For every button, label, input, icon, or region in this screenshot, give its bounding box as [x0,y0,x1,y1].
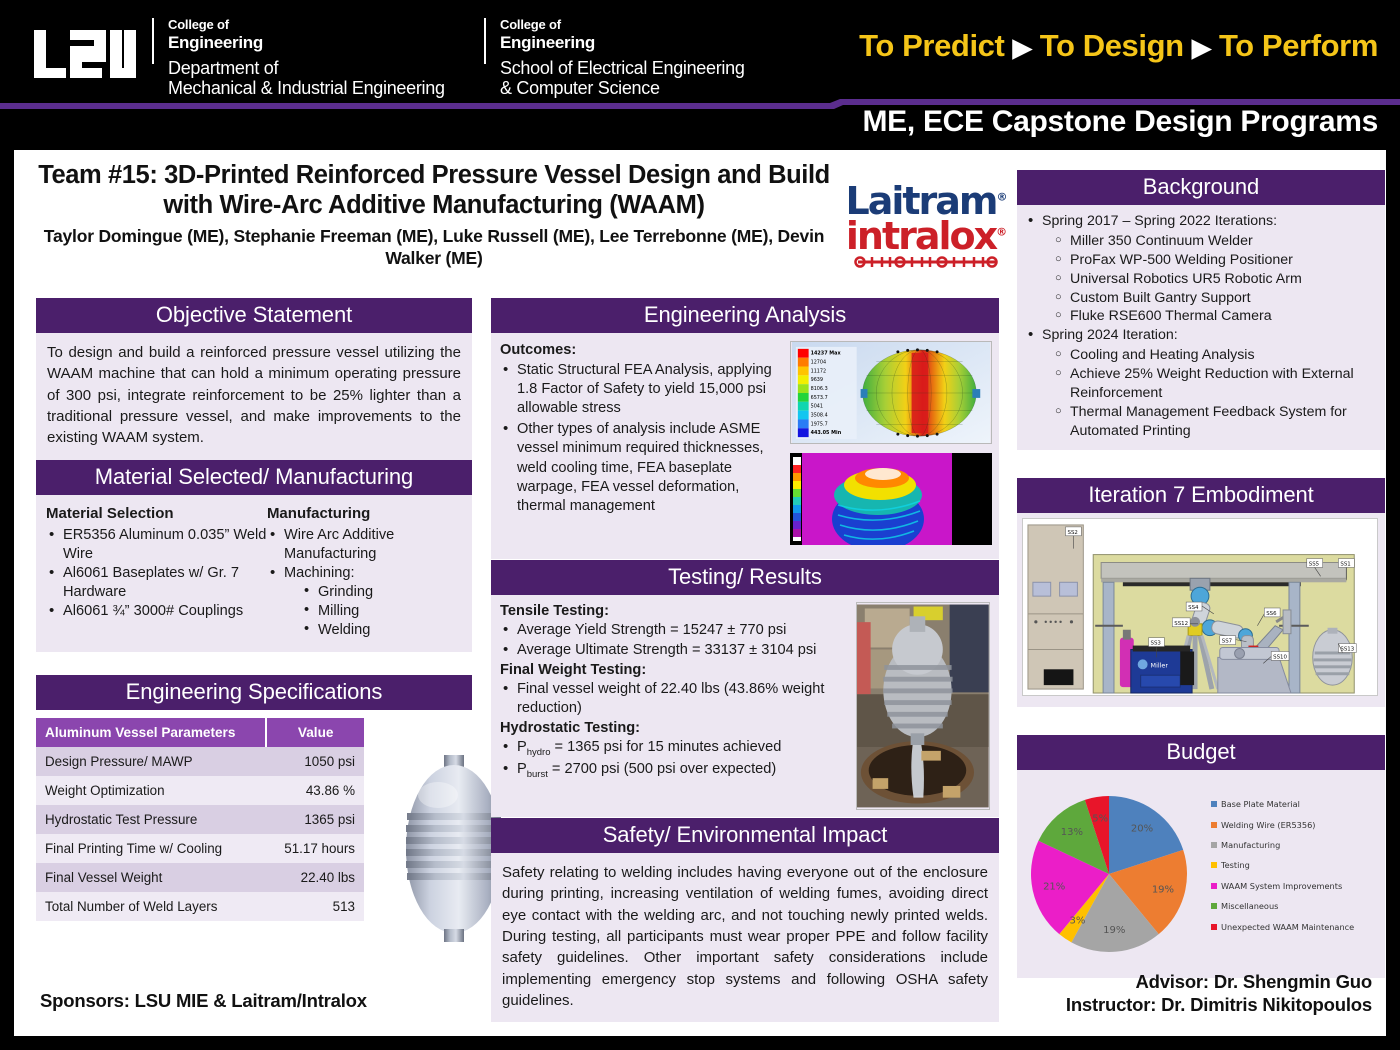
cell-value: 513 [266,892,364,921]
callout-ss10: SS10 [1273,655,1287,661]
cell-parameter: Final Printing Time w/ Cooling [36,834,266,863]
embodiment-cad-diagram: Miller [1022,518,1378,696]
section-objective-statement: Objective Statement To design and build … [36,298,472,460]
table-header-row: Aluminum Vessel Parameters Value [36,718,364,747]
cell-parameter: Hydrostatic Test Pressure [36,805,266,834]
manufacturing-heading: Manufacturing [267,504,462,523]
legend-item: Miscellaneous [1211,902,1381,911]
fea-legend-2: 11172 [811,368,827,374]
list-item: Final vessel weight of 22.40 lbs (43.86%… [500,680,851,718]
cell-parameter: Weight Optimization [36,776,266,805]
table-row: Total Number of Weld Layers513 [36,892,364,921]
testing-heading: Testing/ Results [491,560,999,595]
dept1-line1: College of [168,18,445,33]
fea-legend-8: 1975.7 [811,421,828,427]
analysis-images: 14237 Max 12704 11172 9639 8106.3 6573.7… [790,341,990,551]
analysis-text: Outcomes: Static Structural FEA Analysis… [500,341,784,551]
list-item: Spring 2017 – Spring 2022 Iterations: [1025,212,1377,231]
engineering-specifications-table: Aluminum Vessel Parameters Value Design … [36,718,364,921]
material-selection-heading: Material Selection [46,504,267,523]
pie-slice-label: 13% [1061,827,1083,838]
dept2-line3: School of Electrical Engineering [500,58,745,78]
section-material-manufacturing: Material Selected/ Manufacturing Materia… [36,460,472,652]
list-item: Phydro = 1365 psi for 15 minutes achieve… [500,738,851,759]
cell-parameter: Final Vessel Weight [36,863,266,892]
list-item: Average Ultimate Strength = 33137 ± 3104… [500,641,851,660]
background-list: Spring 2017 – Spring 2022 Iterations: [1025,212,1377,231]
legend-swatch-icon [1211,924,1217,930]
hydrostatic-heading: Hydrostatic Testing: [500,719,851,738]
dept-mie-block: College of Engineering Department of Mec… [168,18,445,98]
final-weight-heading: Final Weight Testing: [500,661,851,680]
budget-heading: Budget [1017,735,1385,770]
section-budget: Budget 20%19%19%3%21%13%5% Base Plate Ma… [1017,735,1385,978]
sub-banner-title: ME, ECE Capstone Design Programs [862,105,1378,139]
lsu-logo [32,28,138,80]
cell-value: 1365 psi [266,805,364,834]
hydrostatic-test-photo [856,602,990,810]
legend-label: Base Plate Material [1221,800,1300,809]
advisor-block: Advisor: Dr. Shengmin Guo Instructor: Dr… [1066,970,1372,1016]
section-testing-results: Testing/ Results Tensile Testing: Averag… [491,560,999,817]
pie-slice-label: 5% [1092,814,1108,825]
list-item: Custom Built Gantry Support [1053,289,1377,308]
background-sublist-2: Cooling and Heating Analysis Achieve 25%… [1053,346,1377,440]
sponsor-logo-laitram-intralox: Laitram® intralox® [845,164,1008,290]
legend-swatch-icon [1211,862,1217,868]
dept2-line4: & Computer Science [500,78,745,98]
callout-ss4: SS4 [1188,605,1199,611]
cell-value: 43.86 % [266,776,364,805]
budget-body: 20%19%19%3%21%13%5% Base Plate MaterialW… [1017,770,1385,978]
table-row: Weight Optimization43.86 % [36,776,364,805]
legend-item: Testing [1211,861,1381,870]
callout-ss7: SS7 [1222,639,1232,645]
fea-legend-4: 8106.3 [811,386,828,392]
legend-swatch-icon [1211,883,1217,889]
list-item: Average Yield Strength = 15247 ± 770 psi [500,621,851,640]
list-item: Grinding [301,583,462,602]
dept1-line3: Department of [168,58,445,78]
poster-header: College of Engineering Department of Mec… [0,0,1400,148]
fea-legend-1: 12704 [811,360,827,366]
fea-stress-plot-image: 14237 Max 12704 11172 9639 8106.3 6573.7… [790,341,992,444]
safety-heading: Safety/ Environmental Impact [491,818,999,853]
tagline: To Predict ▶ To Design ▶ To Perform [859,28,1378,64]
legend-item: Base Plate Material [1211,800,1381,809]
tagline-triangle-1-icon: ▶ [1013,34,1032,62]
legend-item: Unexpected WAAM Maintenance [1211,923,1381,932]
background-body: Spring 2017 – Spring 2022 Iterations: Mi… [1017,205,1385,450]
list-item: Thermal Management Feedback System for A… [1053,403,1377,441]
p-burst-value: = 2700 psi (500 psi over expected) [548,761,776,777]
legend-label: Unexpected WAAM Maintenance [1221,923,1354,932]
legend-swatch-icon [1211,903,1217,909]
p-hydro-value: = 1365 psi for 15 minutes achieved [551,739,782,755]
section-engineering-specifications: Engineering Specifications Aluminum Vess… [36,675,472,921]
tensile-testing-list: Average Yield Strength = 15247 ± 770 psi… [500,621,851,660]
material-body: Material Selection ER5356 Aluminum 0.035… [36,495,472,652]
legend-swatch-icon [1211,822,1217,828]
fea-legend-0: 14237 Max [811,351,842,357]
cell-parameter: Design Pressure/ MAWP [36,747,266,776]
column-header-parameter: Aluminum Vessel Parameters [36,718,266,747]
list-item: Machining: [267,564,462,583]
dept-ece-block: College of Engineering School of Electri… [500,18,745,98]
list-item: Cooling and Heating Analysis [1053,346,1377,365]
list-item: Universal Robotics UR5 Robotic Arm [1053,270,1377,289]
cell-parameter: Total Number of Weld Layers [36,892,266,921]
embodiment-body: Miller [1017,513,1385,707]
background-heading: Background [1017,170,1385,205]
p-burst-symbol: P [517,761,527,777]
header-divider-2 [484,18,486,64]
callout-ss3: SS3 [1151,641,1162,647]
pie-slice-label: 3% [1069,916,1085,927]
advisor-line: Advisor: Dr. Shengmin Guo [1066,970,1372,993]
dept1-line2: Engineering [168,33,445,52]
list-item: Miller 350 Continuum Welder [1053,232,1377,251]
callout-ss13: SS13 [1340,647,1354,653]
hydrostatic-list: Phydro = 1365 psi for 15 minutes achieve… [500,738,851,782]
list-item: Milling [301,602,462,621]
cell-value: 1050 psi [266,747,364,776]
analysis-heading: Engineering Analysis [491,298,999,333]
embodiment-heading: Iteration 7 Embodiment [1017,478,1385,513]
tensile-testing-heading: Tensile Testing: [500,602,851,621]
dept2-line2: Engineering [500,33,745,52]
welder-brand-label: Miller [1151,661,1169,669]
list-item: Static Structural FEA Analysis, applying… [500,361,784,419]
callout-ss6: SS6 [1266,611,1277,617]
fea-legend-5: 6573.7 [811,395,828,401]
machining-sublist: Grinding Milling Welding [301,583,462,640]
list-item: Welding [301,621,462,640]
p-hydro-symbol: P [517,739,527,755]
testing-body: Tensile Testing: Average Yield Strength … [491,595,999,817]
cell-value: 51.17 hours [266,834,364,863]
cell-value: 22.40 lbs [266,863,364,892]
tagline-part1: To Predict [859,28,1004,63]
sponsors-line: Sponsors: LSU MIE & Laitram/Intralox [40,990,367,1012]
list-item: Wire Arc Additive Manufacturing [267,526,462,564]
legend-item: WAAM System Improvements [1211,882,1381,891]
title-zone: Team #15: 3D-Printed Reinforced Pressure… [34,160,834,269]
callout-ss2: SS2 [1068,530,1078,536]
p-hydro-subscript: hydro [527,747,551,758]
legend-item: Manufacturing [1211,841,1381,850]
background-sublist-1: Miller 350 Continuum Welder ProFax WP-50… [1053,232,1377,326]
tagline-part2: To Design [1040,28,1184,63]
table-row: Final Vessel Weight22.40 lbs [36,863,364,892]
analysis-list: Static Structural FEA Analysis, applying… [500,361,784,517]
material-selection-column: Material Selection ER5356 Aluminum 0.035… [46,504,267,640]
background-list-2: Spring 2024 Iteration: [1025,326,1377,345]
fea-legend-6: 5041 [811,404,823,410]
intralox-belt-icon [852,254,1002,270]
fea-legend-3: 9639 [811,377,823,383]
section-iteration-7-embodiment: Iteration 7 Embodiment [1017,478,1385,707]
table-row: Design Pressure/ MAWP1050 psi [36,747,364,776]
tagline-triangle-2-icon: ▶ [1192,34,1211,62]
list-item: Fluke RSE600 Thermal Camera [1053,307,1377,326]
list-item: Other types of analysis include ASME ves… [500,420,784,517]
objective-body: To design and build a reinforced pressur… [36,333,472,459]
objective-heading: Objective Statement [36,298,472,333]
material-heading: Material Selected/ Manufacturing [36,460,472,495]
budget-pie-chart: 20%19%19%3%21%13%5% [1021,774,1211,976]
legend-swatch-icon [1211,842,1217,848]
legend-label: Testing [1221,861,1250,870]
dept2-line1: College of [500,18,745,33]
pie-slice-label: 19% [1103,925,1125,936]
legend-swatch-icon [1211,801,1217,807]
list-item: Achieve 25% Weight Reduction with Extern… [1053,365,1377,403]
callout-ss12: SS12 [1174,621,1188,627]
tagline-part3: To Perform [1219,28,1378,63]
section-safety-environmental-impact: Safety/ Environmental Impact Safety rela… [491,818,999,1022]
pie-svg: 20%19%19%3%21%13%5% [1021,774,1211,974]
legend-label: Manufacturing [1221,841,1280,850]
fea-legend-9: 443.05 Min [811,430,842,436]
list-item: Pburst = 2700 psi (500 psi over expected… [500,760,851,781]
testing-text: Tensile Testing: Average Yield Strength … [500,602,851,810]
callout-ss5: SS5 [1309,562,1319,568]
legend-label: Miscellaneous [1221,902,1278,911]
safety-body: Safety relating to welding includes havi… [491,853,999,1022]
list-item: Al6061 Baseplates w/ Gr. 7 Hardware [46,564,267,602]
dept1-line4: Mechanical & Industrial Engineering [168,78,445,98]
analysis-subheading: Outcomes: [500,341,784,360]
list-item: ProFax WP-500 Welding Positioner [1053,251,1377,270]
section-background: Background Spring 2017 – Spring 2022 Ite… [1017,170,1385,450]
manufacturing-list: Wire Arc Additive Manufacturing Machinin… [267,526,462,583]
callout-ss1: SS1 [1340,562,1350,568]
analysis-body: Outcomes: Static Structural FEA Analysis… [491,333,999,559]
list-item: ER5356 Aluminum 0.035” Weld Wire [46,526,267,564]
list-item: Spring 2024 Iteration: [1025,326,1377,345]
material-selection-list: ER5356 Aluminum 0.035” Weld Wire Al6061 … [46,526,267,621]
poster-root: College of Engineering Department of Mec… [0,0,1400,1050]
pie-slice-label: 20% [1131,824,1153,835]
engspecs-heading: Engineering Specifications [36,675,472,710]
legend-item: Welding Wire (ER5356) [1211,821,1381,830]
intralox-wordmark: intralox® [846,219,1007,254]
author-list: Taylor Domingue (ME), Stephanie Freeman … [34,226,834,269]
column-header-value: Value [266,718,364,747]
budget-legend: Base Plate MaterialWelding Wire (ER5356)… [1211,774,1381,976]
thermal-camera-image [790,453,992,545]
poster-board: Team #15: 3D-Printed Reinforced Pressure… [14,150,1386,1036]
header-divider-1 [152,18,154,64]
p-burst-subscript: burst [527,769,548,780]
page-title: Team #15: 3D-Printed Reinforced Pressure… [34,160,834,220]
section-engineering-analysis: Engineering Analysis Outcomes: Static St… [491,298,999,559]
table-row: Final Printing Time w/ Cooling51.17 hour… [36,834,364,863]
pie-slice-label: 21% [1043,881,1065,892]
manufacturing-column: Manufacturing Wire Arc Additive Manufact… [267,504,462,640]
table-row: Hydrostatic Test Pressure1365 psi [36,805,364,834]
final-weight-list: Final vessel weight of 22.40 lbs (43.86%… [500,680,851,718]
list-item: Al6061 ¾” 3000# Couplings [46,602,267,621]
instructor-line: Instructor: Dr. Dimitris Nikitopoulos [1066,993,1372,1016]
legend-label: WAAM System Improvements [1221,882,1342,891]
legend-label: Welding Wire (ER5356) [1221,821,1316,830]
fea-legend-7: 3508.4 [811,413,828,419]
pie-slice-label: 19% [1152,885,1174,896]
